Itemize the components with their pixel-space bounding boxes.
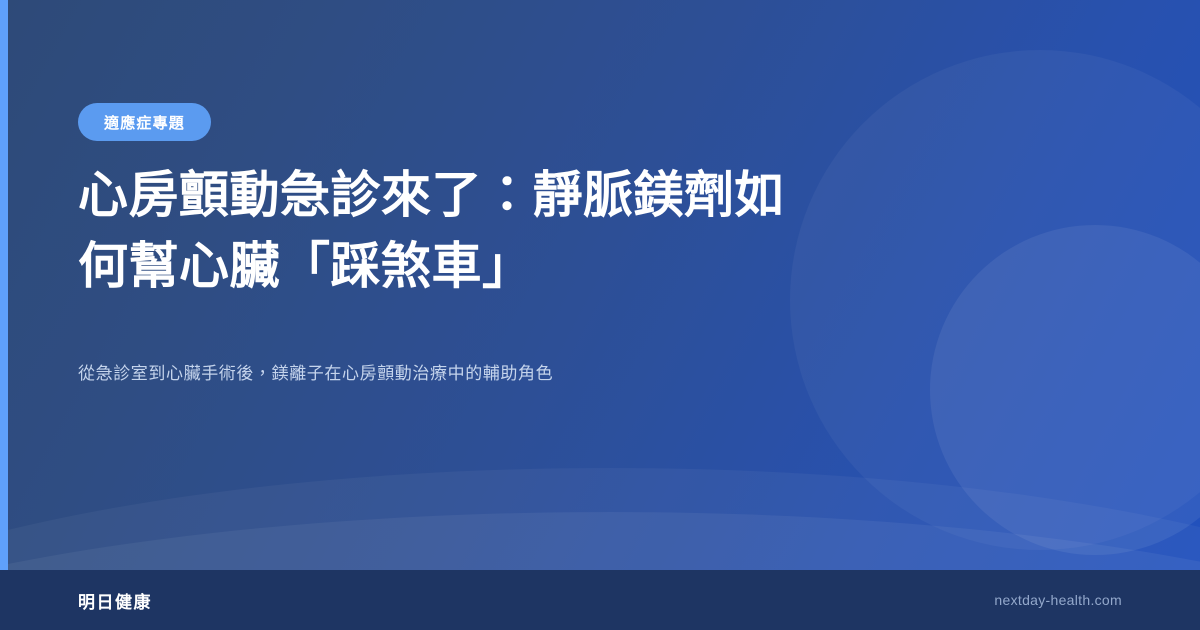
category-badge[interactable]: 適應症專題 (78, 103, 211, 141)
page-title-line-1: 心房顫動急診來了：靜脈鎂劑如 (78, 160, 908, 231)
left-accent-bar (0, 0, 8, 570)
card-footer: 明日健康 nextday-health.com (0, 570, 1200, 630)
social-share-card: 適應症專題 心房顫動急診來了：靜脈鎂劑如 何幫心臟「踩煞車」 從急診室到心臟手術… (0, 0, 1200, 630)
category-badge-label: 適應症專題 (104, 112, 185, 133)
page-title-line-2: 何幫心臟「踩煞車」 (78, 231, 908, 302)
brand-name: 明日健康 (78, 588, 152, 613)
page-subtitle: 從急診室到心臟手術後，鎂離子在心房顫動治療中的輔助角色 (78, 360, 838, 387)
site-url: nextday-health.com (994, 592, 1122, 608)
card-content: 適應症專題 心房顫動急診來了：靜脈鎂劑如 何幫心臟「踩煞車」 從急診室到心臟手術… (78, 0, 1122, 630)
page-title: 心房顫動急診來了：靜脈鎂劑如 何幫心臟「踩煞車」 (78, 160, 908, 302)
